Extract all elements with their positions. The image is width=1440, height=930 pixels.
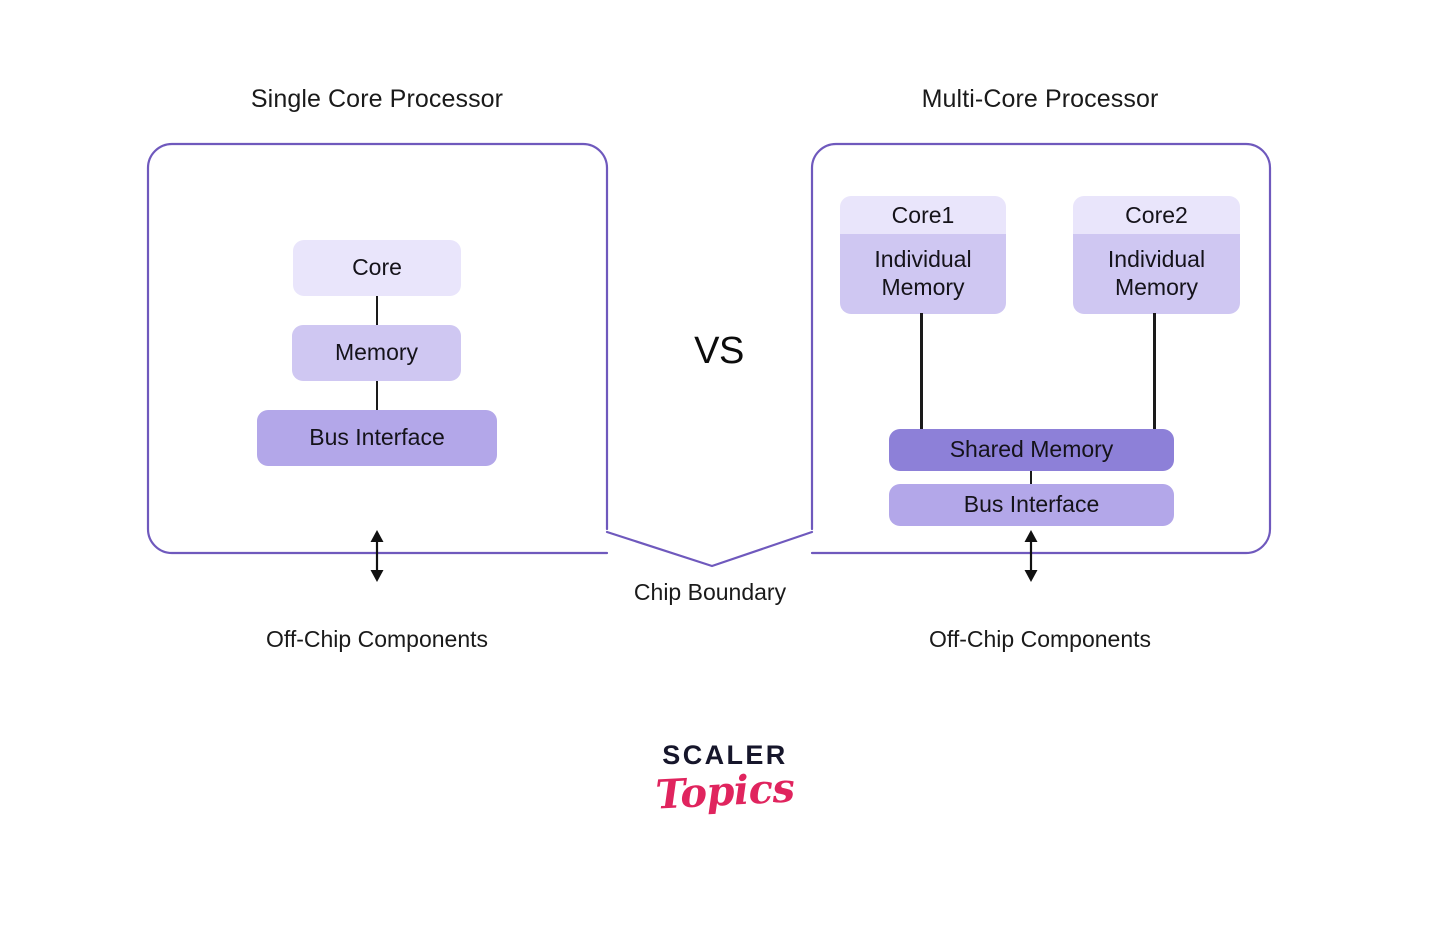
offchip-components-label-right: Off-Chip Components — [860, 626, 1220, 653]
right-panel-title: Multi-Core Processor — [840, 85, 1240, 114]
core2-individual-memory: Individual Memory — [1073, 234, 1240, 314]
connector-memory-to-bus — [376, 381, 378, 411]
core1-name: Core1 — [840, 196, 1006, 234]
block-bus-interface-left: Bus Interface — [257, 410, 497, 466]
core2-memory-line1: Individual — [1108, 245, 1205, 273]
offchip-arrow-left-icon — [364, 530, 390, 582]
left-panel-title: Single Core Processor — [177, 85, 577, 114]
block-bus-interface-right: Bus Interface — [889, 484, 1174, 526]
core-card-2: Core2 Individual Memory — [1073, 196, 1240, 314]
core1-memory-line1: Individual — [874, 245, 971, 273]
connector-core-to-memory — [376, 296, 378, 326]
chip-boundary-connector — [607, 532, 812, 566]
processor-comparison-diagram: Single Core Processor Multi-Core Process… — [0, 0, 1440, 930]
connector-core2-to-shared-memory — [1153, 313, 1156, 430]
core2-name: Core2 — [1073, 196, 1240, 234]
offchip-components-label-left: Off-Chip Components — [197, 626, 557, 653]
block-shared-memory: Shared Memory — [889, 429, 1174, 471]
block-memory: Memory — [292, 325, 461, 381]
vs-label: VS — [659, 330, 779, 373]
core2-memory-line2: Memory — [1115, 273, 1198, 301]
offchip-arrow-right-icon — [1018, 530, 1044, 582]
logo-word-topics: Topics — [639, 767, 811, 818]
block-core: Core — [293, 240, 461, 296]
scaler-topics-logo: SCALER Topics — [640, 742, 810, 813]
chip-boundary-label: Chip Boundary — [560, 579, 860, 606]
core1-individual-memory: Individual Memory — [840, 234, 1006, 314]
core1-memory-line2: Memory — [881, 273, 964, 301]
connector-core1-to-shared-memory — [920, 313, 923, 430]
connector-shared-memory-to-bus — [1030, 471, 1032, 485]
core-card-1: Core1 Individual Memory — [840, 196, 1006, 314]
